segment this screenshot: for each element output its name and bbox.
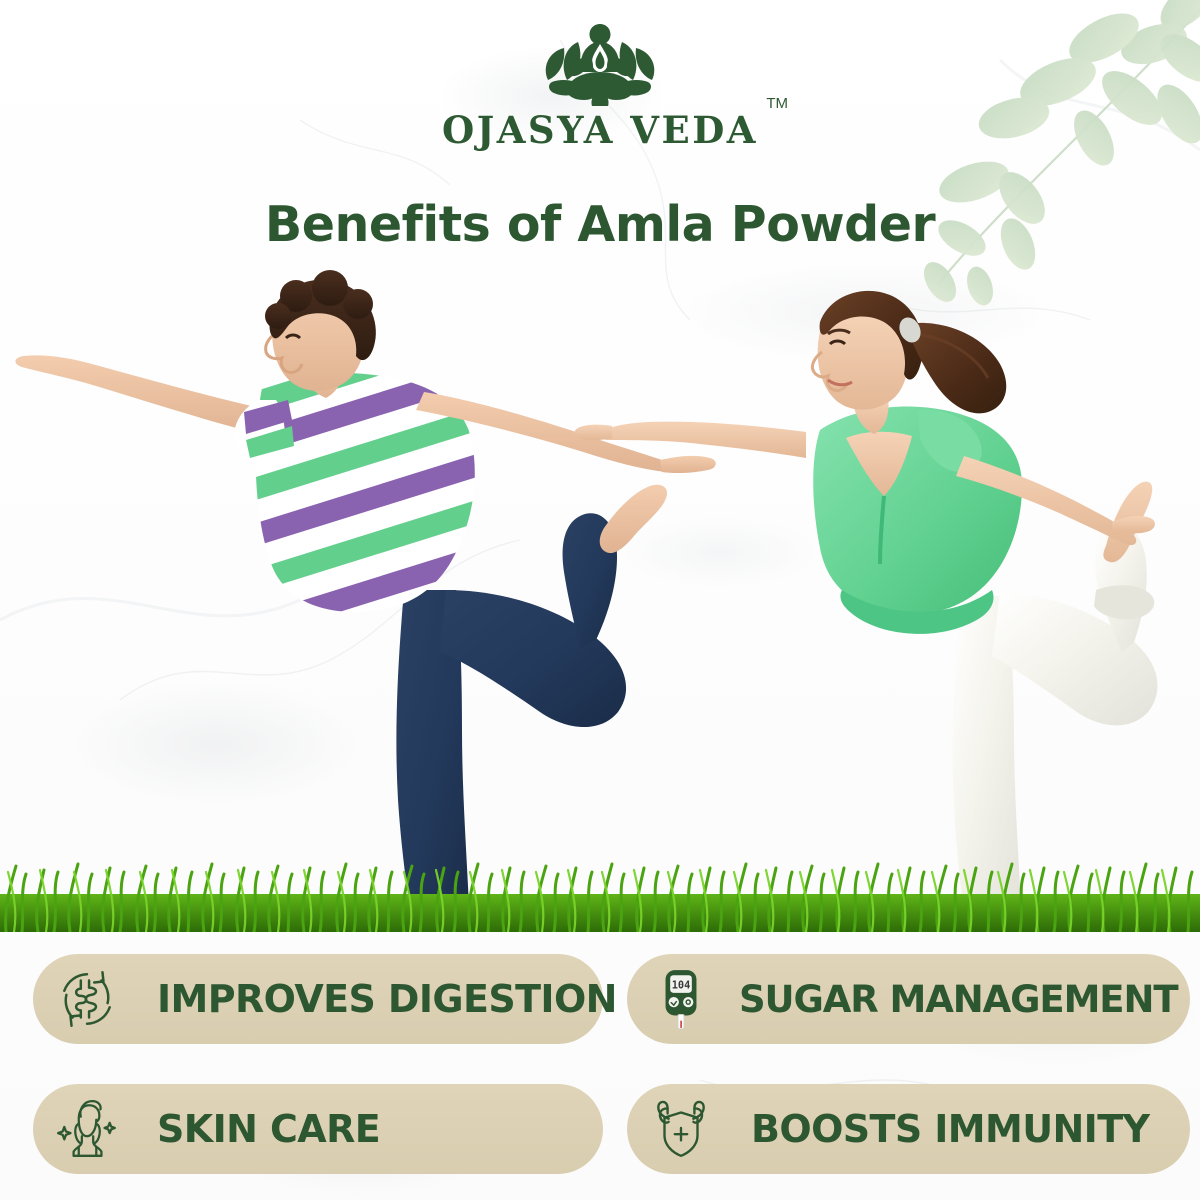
grass-strip	[0, 864, 1200, 932]
benefit-pill-improves-digestion[interactable]: IMPROVES DIGESTION	[33, 954, 603, 1044]
benefits-list: IMPROVES DIGESTION 104 SUGAR MANAGEMENT	[0, 946, 1200, 1186]
benefit-pill-sugar-management[interactable]: 104 SUGAR MANAGEMENT	[627, 954, 1190, 1044]
benefit-pill-skin-care[interactable]: SKIN CARE	[33, 1084, 603, 1174]
lotus-meditation-figure-icon	[534, 18, 666, 110]
man-figure	[15, 270, 715, 932]
page-title: Benefits of Amla Powder	[0, 196, 1200, 253]
benefit-pill-boosts-immunity[interactable]: BOOSTS IMMUNITY	[627, 1084, 1190, 1174]
benefit-label: IMPROVES DIGESTION	[157, 980, 617, 1018]
trademark-symbol: TM	[766, 96, 788, 111]
glucometer-reading: 104	[672, 980, 691, 992]
benefit-label: BOOSTS IMMUNITY	[751, 1110, 1149, 1148]
benefit-label: SUGAR MANAGEMENT	[739, 981, 1177, 1018]
yoga-couple-illustration	[0, 260, 1200, 932]
skincare-face-sparkle-icon	[51, 1093, 123, 1165]
glucometer-icon: 104	[645, 963, 717, 1035]
benefit-label: SKIN CARE	[157, 1110, 380, 1148]
brand-wordmark-wrap: OJASYA VEDA TM	[442, 112, 758, 149]
woman-figure	[575, 291, 1158, 932]
digestion-intestine-cycle-icon	[51, 963, 123, 1035]
poster-canvas: OJASYA VEDA TM Benefits of Amla Powder	[0, 0, 1200, 1200]
hero-photo	[0, 260, 1200, 932]
brand-logo: OJASYA VEDA TM	[0, 18, 1200, 149]
brand-wordmark: OJASYA VEDA	[442, 108, 758, 152]
shield-muscle-immunity-icon	[645, 1093, 717, 1165]
